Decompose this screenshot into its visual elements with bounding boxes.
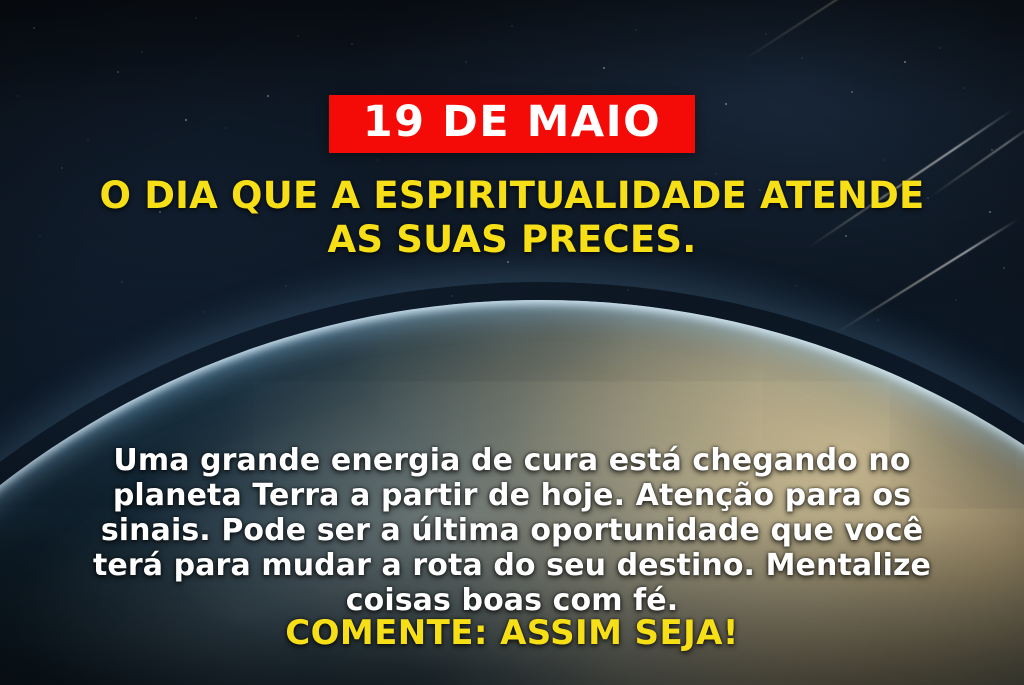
date-banner: 19 DE MAIO bbox=[329, 95, 695, 153]
headline-title: O DIA QUE A ESPIRITUALIDADE ATENDE AS SU… bbox=[72, 174, 952, 261]
body-paragraph-block: Uma grande energia de cura está chegando… bbox=[62, 443, 962, 618]
poster-content: 19 DE MAIO O DIA QUE A ESPIRITUALIDADE A… bbox=[0, 0, 1024, 685]
date-banner-label: 19 DE MAIO bbox=[363, 101, 661, 144]
body-paragraph: Uma grande energia de cura está chegando… bbox=[62, 443, 962, 618]
poster-canvas: 19 DE MAIO O DIA QUE A ESPIRITUALIDADE A… bbox=[0, 0, 1024, 685]
call-to-action-text: COMENTE: ASSIM SEJA! bbox=[285, 613, 739, 653]
